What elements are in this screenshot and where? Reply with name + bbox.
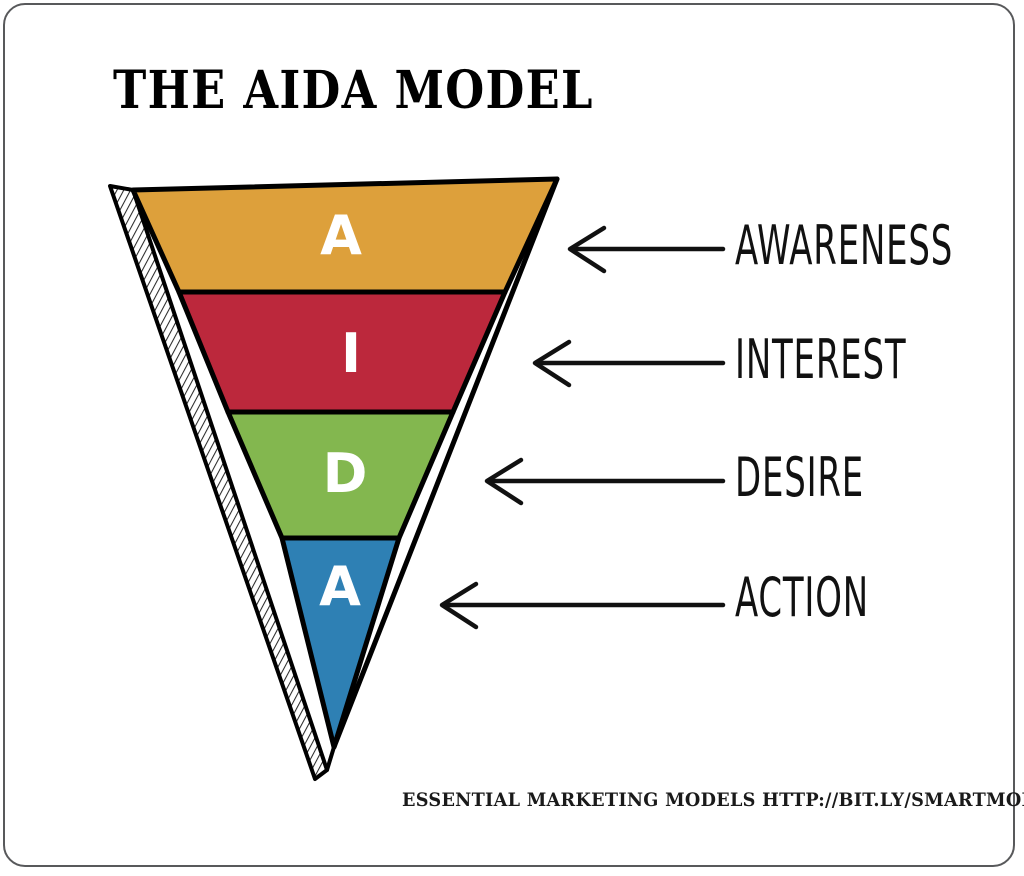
footer-attribution: ESSENTIAL MARKETING MODELS HTTP://BIT.LY… [402, 789, 1024, 811]
funnel-letter-desire: D [310, 447, 380, 501]
stage-label-desire: DESIRE [735, 445, 864, 509]
funnel-tip [327, 747, 334, 770]
arrow-interest [535, 342, 723, 385]
arrow-action [442, 584, 723, 627]
stage-label-interest: INTEREST [735, 327, 906, 391]
arrow-awareness [570, 228, 723, 271]
funnel-graphic [0, 0, 1024, 876]
arrow-desire [487, 460, 723, 503]
funnel-letter-interest: I [316, 327, 386, 381]
funnel-letter-awareness: A [306, 209, 376, 263]
diagram-canvas: THE AIDA MODEL [0, 0, 1024, 876]
stage-label-action: ACTION [735, 565, 869, 629]
funnel-letter-action: A [305, 560, 375, 614]
stage-label-awareness: AWARENESS [735, 213, 953, 277]
